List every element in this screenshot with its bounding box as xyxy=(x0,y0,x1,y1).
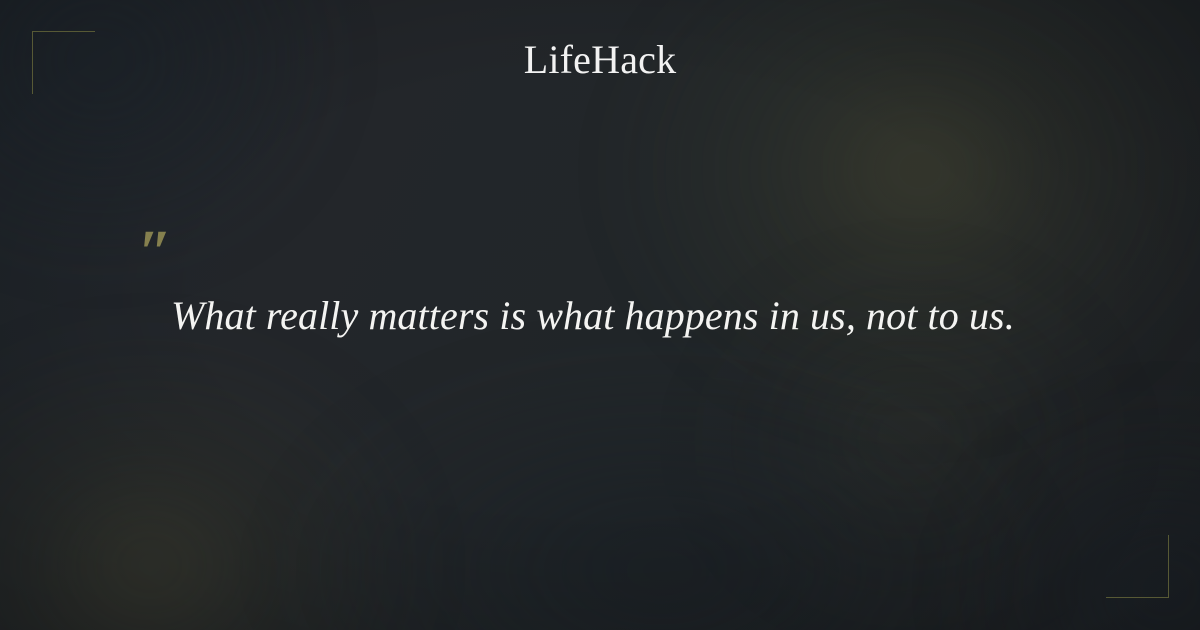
brand-logo: LifeHack xyxy=(0,38,1200,82)
quote-text: What really matters is what happens in u… xyxy=(171,290,1097,343)
quotation-mark-icon: ″ xyxy=(138,222,1097,268)
quote-card: LifeHack ″ What really matters is what h… xyxy=(0,0,1200,630)
quote-block: ″ What really matters is what happens in… xyxy=(137,222,1097,343)
